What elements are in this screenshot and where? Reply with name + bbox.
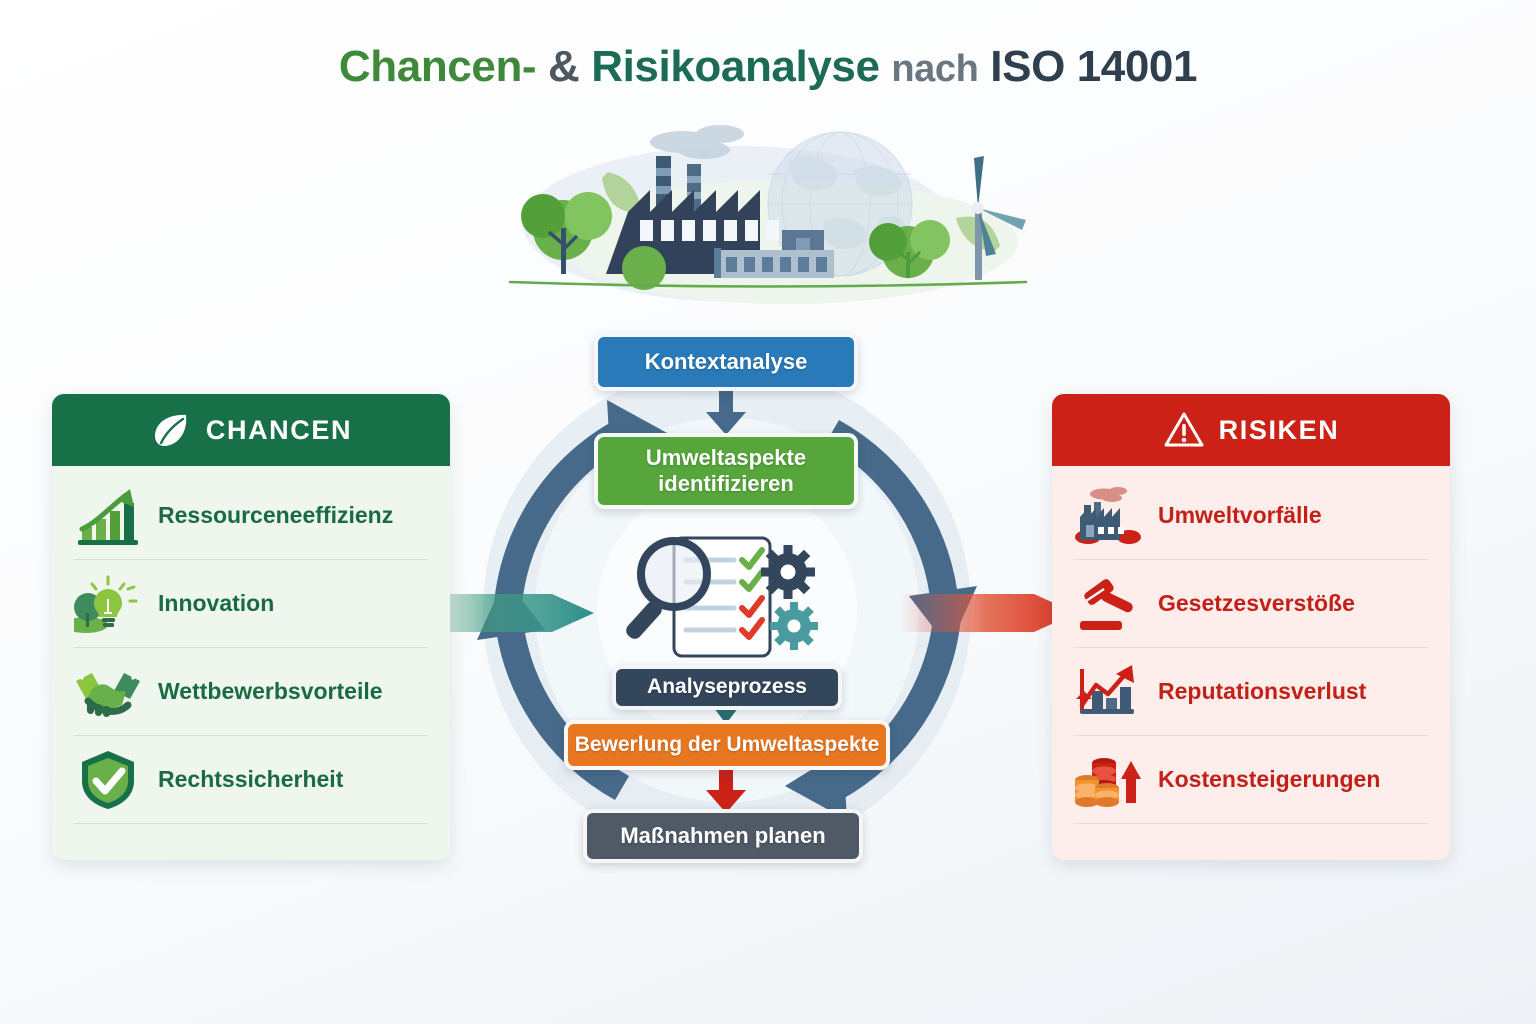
risiken-item-gesetzesverstoesse[interactable]: Gesetzesverstöße <box>1074 560 1428 648</box>
flow-step-label: Umweltaspekte identifizieren <box>598 445 854 496</box>
coin-stacks-arrow-icon <box>1074 749 1142 811</box>
shield-check-icon <box>74 749 142 811</box>
flow-step-massnahmen[interactable]: Maßnahmen planen <box>583 809 863 863</box>
growth-bar-chart-icon <box>74 485 142 547</box>
risiken-item-umweltvorfaelle[interactable]: Umweltvorfälle <box>1074 472 1428 560</box>
title-part-iso: ISO 14001 <box>990 42 1197 91</box>
title-part-nach: nach <box>891 48 978 90</box>
arrow-kontext-to-aspekte <box>700 388 752 438</box>
title-part-ampersand: & <box>548 42 579 91</box>
risiken-item-label: Kostensteigerungen <box>1158 766 1380 793</box>
factory-smoke-icon <box>1074 485 1142 547</box>
magnifier-checklist-gears-icon <box>622 530 832 665</box>
flow-step-label: Kontextanalyse <box>645 349 808 375</box>
chancen-item-ressourceneffizienz[interactable]: Ressourceneeffizienz <box>74 472 428 560</box>
panel-risiken-title: RISIKEN <box>1219 415 1340 446</box>
center-to-risiken-arrow <box>900 578 1076 648</box>
chancen-item-label: Wettbewerbsvorteile <box>158 678 383 705</box>
risiken-item-reputationsverlust[interactable]: Reputationsverlust <box>1074 648 1428 736</box>
chancen-item-innovation[interactable]: Innovation <box>74 560 428 648</box>
panel-risiken-header: RISIKEN <box>1052 394 1450 466</box>
risiken-item-kostensteigerungen[interactable]: Kostensteigerungen <box>1074 736 1428 824</box>
panel-risiken-body: Umweltvorfälle Gesetzesverstöße <box>1052 466 1450 824</box>
flow-step-label: Bewerlung der Umweltaspekte <box>575 733 880 757</box>
page-title: Chancen- & Risikoanalyse nach ISO 14001 <box>0 42 1536 92</box>
risiken-item-label: Gesetzesverstöße <box>1158 590 1355 617</box>
lightbulb-tree-icon <box>74 573 142 635</box>
gavel-icon <box>1074 573 1142 635</box>
flow-step-label: Maßnahmen planen <box>620 823 825 849</box>
panel-chancen-title: CHANCEN <box>206 415 352 446</box>
risiken-item-label: Umweltvorfälle <box>1158 502 1322 529</box>
chancen-item-label: Innovation <box>158 590 274 617</box>
warning-triangle-icon <box>1163 409 1205 451</box>
chancen-item-wettbewerbsvorteile[interactable]: Wettbewerbsvorteile <box>74 648 428 736</box>
flow-step-bewertung[interactable]: Bewerlung der Umweltaspekte <box>564 720 890 770</box>
panel-chancen-header: CHANCEN <box>52 394 450 466</box>
handshake-icon <box>74 661 142 723</box>
flow-step-label: Analyseprozess <box>647 675 807 699</box>
chancen-item-label: Rechtssicherheit <box>158 766 343 793</box>
declining-chart-arrow-icon <box>1074 661 1142 723</box>
flow-step-umweltaspekte[interactable]: Umweltaspekte identifizieren <box>594 433 858 509</box>
leaf-icon <box>150 409 192 451</box>
panel-chancen: CHANCEN Ressourceneeffizienz <box>52 394 450 860</box>
flow-step-kontextanalyse[interactable]: Kontextanalyse <box>594 333 858 391</box>
factory-globe-nature-illustration <box>488 112 1048 312</box>
panel-risiken: RISIKEN Umweltvorfälle <box>1052 394 1450 860</box>
title-part-risikoanalyse: Risikoanalyse <box>591 42 879 91</box>
flow-step-analyseprozess[interactable]: Analyseprozess <box>612 665 842 710</box>
title-part-chancen: Chancen- <box>339 42 536 91</box>
panel-chancen-body: Ressourceneeffizienz Innovation <box>52 466 450 824</box>
hero-illustration <box>488 112 1048 312</box>
chancen-item-label: Ressourceneeffizienz <box>158 502 393 529</box>
risiken-item-label: Reputationsverlust <box>1158 678 1366 705</box>
chancen-item-rechtssicherheit[interactable]: Rechtssicherheit <box>74 736 428 824</box>
magnifier-checklist-gears-glyph <box>622 530 832 665</box>
